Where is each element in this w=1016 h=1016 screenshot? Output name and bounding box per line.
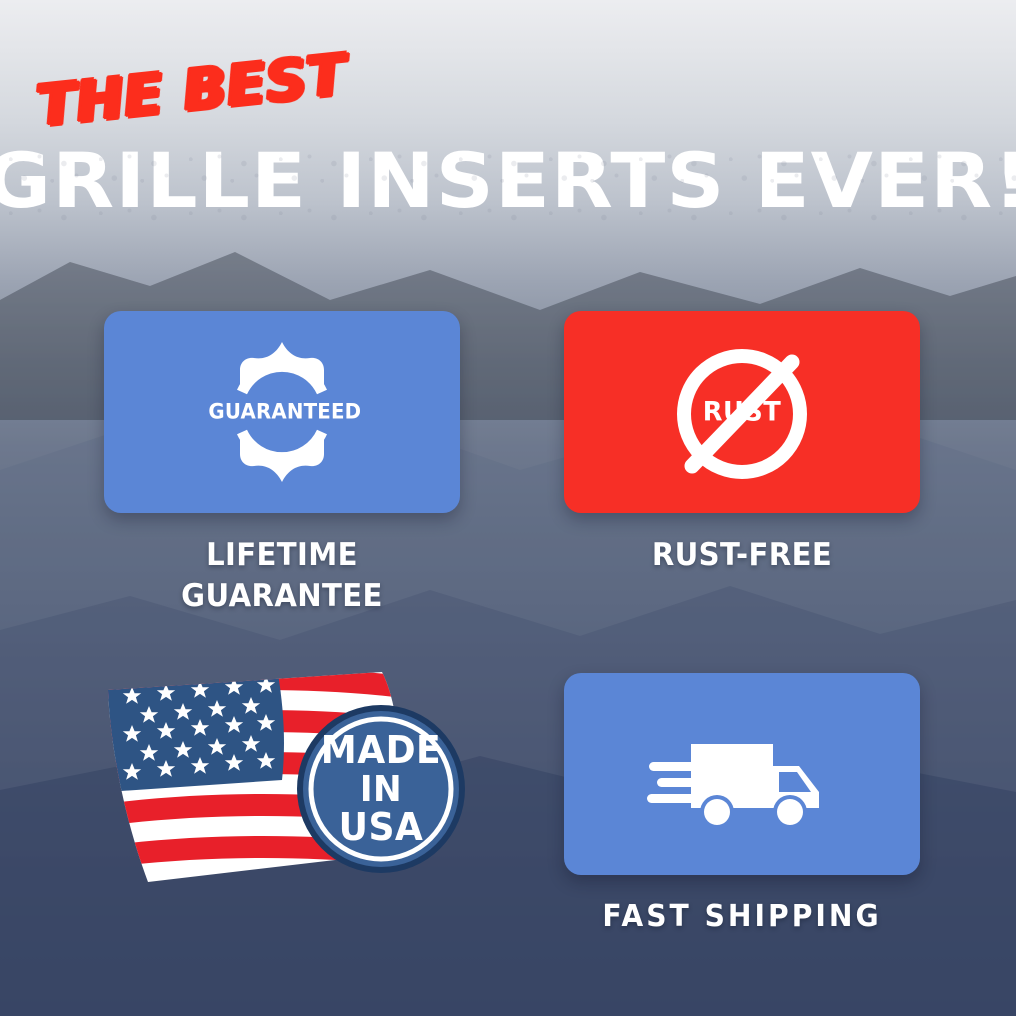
no-rust-icon: RUST <box>658 328 826 496</box>
made-in-usa-badge[interactable]: MADE IN USA <box>296 704 466 874</box>
caption-line-1: RUST-FREE <box>575 535 910 576</box>
guarantee-seal-icon: GUARANTEED <box>202 332 362 492</box>
guarantee-seal-label: GUARANTEED <box>208 400 355 425</box>
caption-line-2: GUARANTEE <box>115 576 450 617</box>
fast-shipping-card[interactable] <box>564 673 920 875</box>
caption-line-1: FAST SHIPPING <box>575 897 910 937</box>
badge-line-2: IN <box>300 770 462 807</box>
feature-caption-lifetime-guarantee: LIFETIME GUARANTEE <box>115 535 450 617</box>
page-title: GRILLE INSERTS EVER! <box>0 143 1016 219</box>
feature-made-in-usa: MADE IN USA <box>104 668 464 888</box>
feature-fast-shipping: FAST SHIPPING <box>564 673 920 937</box>
delivery-truck-icon <box>647 714 837 834</box>
guarantee-card[interactable]: GUARANTEED <box>104 311 460 513</box>
usa-flag-badge-icon[interactable]: MADE IN USA <box>104 668 464 888</box>
no-rust-label: RUST <box>662 397 822 428</box>
feature-caption-fast-shipping: FAST SHIPPING <box>575 897 910 937</box>
badge-line-3: USA <box>300 808 462 848</box>
caption-line-1: LIFETIME <box>115 535 450 576</box>
made-in-usa-badge-text: MADE IN USA <box>300 731 462 847</box>
feature-lifetime-guarantee: GUARANTEED LIFETIME GUARANTEE <box>104 311 460 617</box>
badge-line-1: MADE <box>300 731 462 771</box>
feature-rust-free: RUST RUST-FREE <box>564 311 920 576</box>
rust-free-card[interactable]: RUST <box>564 311 920 513</box>
promo-poster: THE BEST GRILLE INSERTS EVER! GUARANTEED <box>0 0 1016 1016</box>
feature-caption-rust-free: RUST-FREE <box>575 535 910 576</box>
